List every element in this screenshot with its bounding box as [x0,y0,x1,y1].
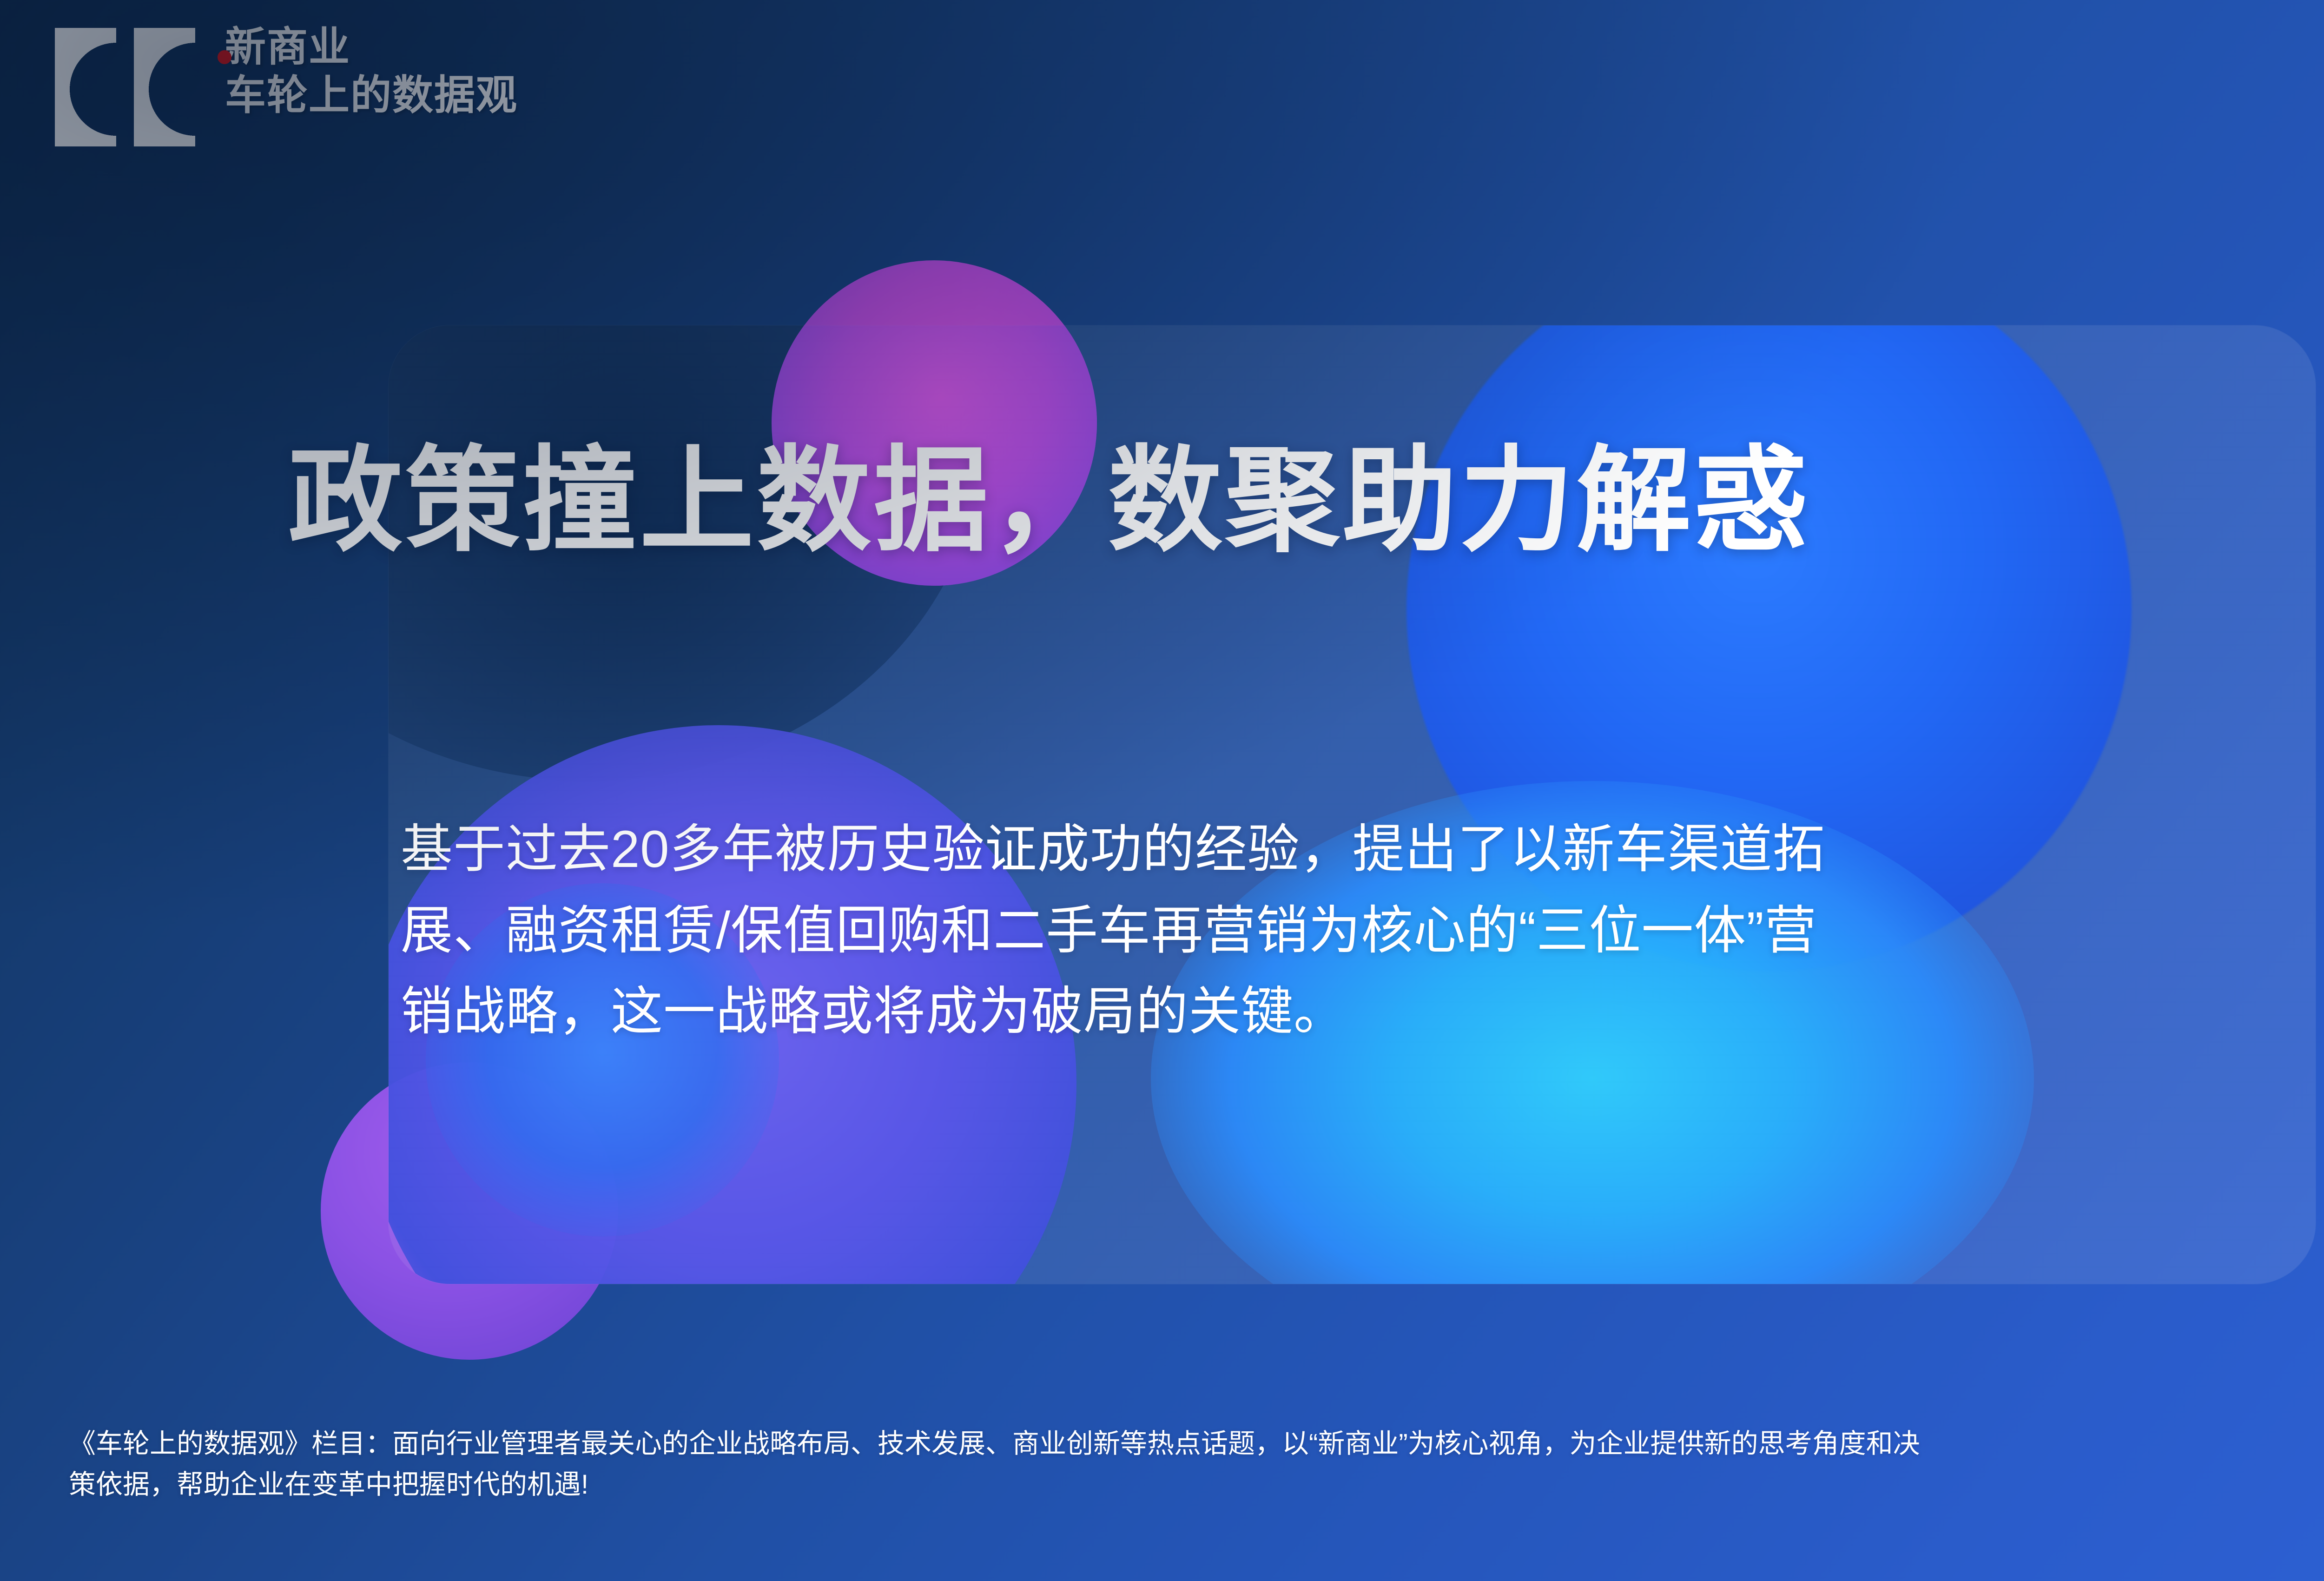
quote-glyph-first [55,28,116,146]
hero-body-copy: 基于过去20多年被历史验证成功的经验，提出了以新车渠道拓 展、融资租赁/保值回购… [401,809,2251,1052]
brand-name-primary-label: 新商业 [225,24,350,70]
brand-name-secondary: 车轮上的数据观 [225,70,518,120]
brand-name-primary: 新商业 [225,24,518,70]
body-line-3: 销战略，这一战略或将成为破局的关键。 [401,971,2251,1052]
brand-text: 新商业 车轮上的数据观 [225,20,518,120]
red-accent-dot-icon [218,50,231,64]
body-line-2: 展、融资租赁/保值回购和二手车再营销为核心的“三位一体”营 [401,890,2251,972]
left-double-quote-icon [55,28,208,149]
body-line-1: 基于过去20多年被历史验证成功的经验，提出了以新车渠道拓 [401,809,2251,890]
poster-canvas: 新商业 车轮上的数据观 政策撞上数据，数聚助力解惑 基于过去20多年被历史验证成… [0,0,2324,1581]
footer-line-1: 《车轮上的数据观》栏目：面向行业管理者最关心的企业战略布局、技术发展、商业创新等… [69,1423,2324,1464]
footer-note: 《车轮上的数据观》栏目：面向行业管理者最关心的企业战略布局、技术发展、商业创新等… [69,1423,2324,1505]
brand-logo: 新商业 车轮上的数据观 [55,20,518,149]
page-title: 政策撞上数据，数聚助力解惑 [288,437,1811,565]
footer-line-2: 策依据，帮助企业在变革中把握时代的机遇! [69,1464,2324,1505]
quote-glyph-second [134,28,195,146]
